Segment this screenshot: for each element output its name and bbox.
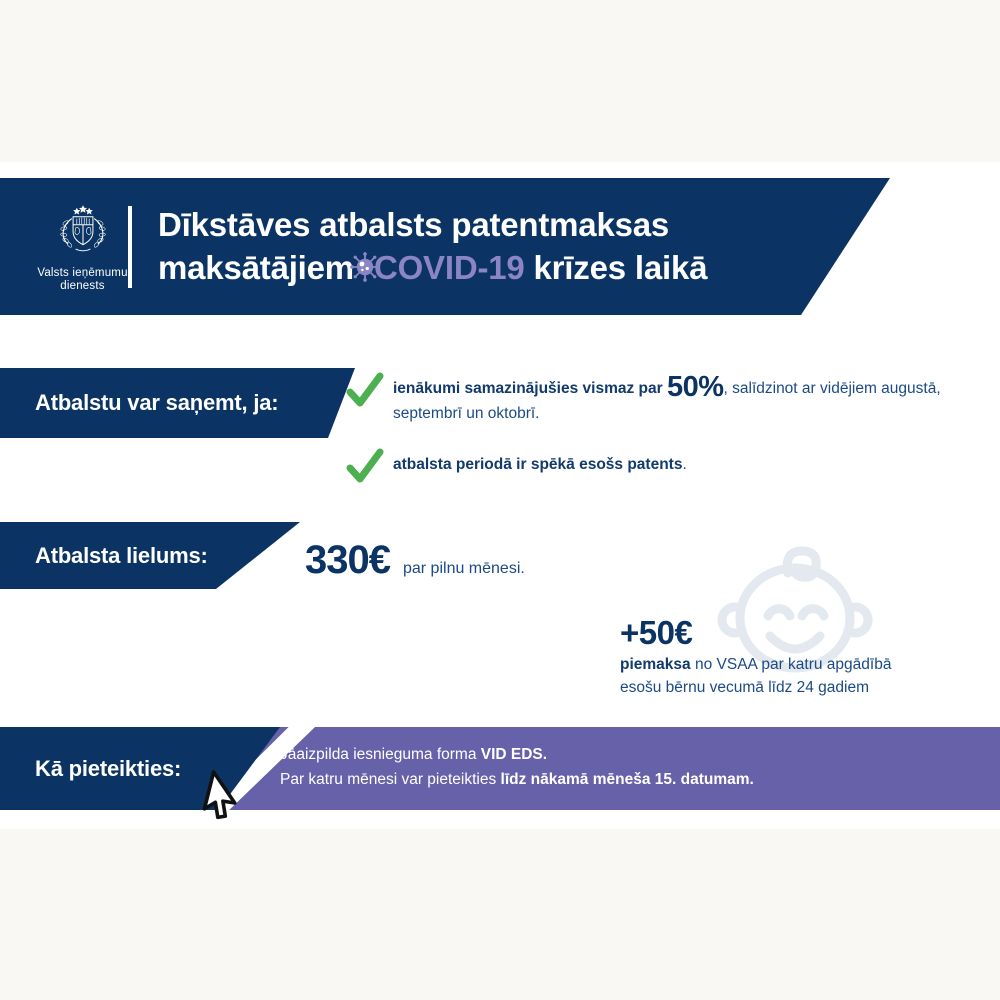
infographic-canvas: Valsts ieņēmumu dienests Dīkstāves atbal…: [0, 0, 1000, 1000]
bonus-line1-rest: no VSAA par katru apgādībā: [691, 656, 892, 673]
apply-instructions: Jāaizpilda iesnieguma forma VID EDS. Par…: [280, 742, 980, 792]
banner-how-to-apply-label: Kā pieteikties:: [35, 756, 181, 782]
bonus-bold: piemaksa: [620, 656, 691, 673]
bonus-line2: esošu bērnu vecumā līdz 24 gadiem: [620, 679, 869, 696]
apply-line2-plain: Par katru mēnesi var pieteikties: [280, 771, 501, 788]
header-banner: Valsts ieņēmumu dienests Dīkstāves atbal…: [0, 178, 890, 315]
covid-label: COVID-19: [374, 249, 525, 286]
latvian-coat-of-arms-icon: [52, 200, 114, 262]
bullet-1-highlight: 50%: [667, 371, 724, 403]
apply-line1-plain: Jāaizpilda iesnieguma forma: [280, 746, 481, 763]
apply-line-2: Par katru mēnesi var pieteikties līdz nā…: [280, 767, 980, 792]
green-check-icon: [345, 372, 385, 412]
vid-logo: Valsts ieņēmumu dienests: [30, 200, 135, 293]
vid-logo-line2: dienests: [60, 280, 104, 292]
coronavirus-icon: [350, 252, 380, 282]
title-line2-after: krīzes laikā: [534, 249, 708, 286]
bullet-2-rest: .: [682, 456, 686, 473]
page-title: Dīkstāves atbalsts patentmaksas maksātāj…: [158, 203, 858, 289]
eligibility-bullet-1-text: ienākumi samazinājušies vismaz par 50%, …: [393, 376, 975, 426]
mouse-pointer-icon: [196, 768, 242, 824]
banner-eligibility-label: Atbalstu var saņemt, ja:: [35, 390, 278, 416]
bonus-block: +50€ piemaksa no VSAA par katru apgādībā…: [620, 615, 990, 699]
apply-line-1: Jāaizpilda iesnieguma forma VID EDS.: [280, 742, 980, 767]
title-line-2: maksātājiem: [158, 246, 858, 289]
bonus-description: piemaksa no VSAA par katru apgādībā esoš…: [620, 653, 990, 699]
banner-support-amount-label: Atbalsta lielums:: [35, 543, 208, 569]
apply-line1-bold: VID EDS.: [481, 746, 547, 763]
header-divider: [128, 206, 132, 288]
vid-logo-text: Valsts ieņēmumu dienests: [37, 267, 127, 293]
support-amount-note: par pilnu mēnesi.: [403, 560, 525, 578]
title-line-1: Dīkstāves atbalsts patentmaksas: [158, 203, 858, 246]
banner-eligibility: Atbalstu var saņemt, ja:: [0, 368, 355, 438]
support-amount-row: 330€ par pilnu mēnesi.: [305, 538, 525, 583]
title-line2-before: maksātājiem: [158, 249, 354, 286]
support-amount-value: 330€: [305, 538, 390, 583]
bonus-amount: +50€: [620, 615, 990, 651]
eligibility-bullet-1: ienākumi samazinājušies vismaz par 50%, …: [345, 376, 975, 426]
bullet-2-bold: atbalsta periodā ir spēkā esošs patents: [393, 456, 682, 473]
vid-logo-line1: Valsts ieņēmumu: [37, 267, 127, 279]
eligibility-bullet-2: atbalsta periodā ir spēkā esošs patents.: [345, 452, 975, 488]
green-check-icon: [345, 448, 385, 488]
apply-line2-bold: līdz nākamā mēneša 15. datumam.: [501, 771, 754, 788]
eligibility-bullet-2-text: atbalsta periodā ir spēkā esošs patents.: [393, 452, 687, 477]
covid-chunk: COVID-19: [354, 246, 525, 289]
bullet-1-bold: ienākumi samazinājušies vismaz par: [393, 380, 667, 397]
